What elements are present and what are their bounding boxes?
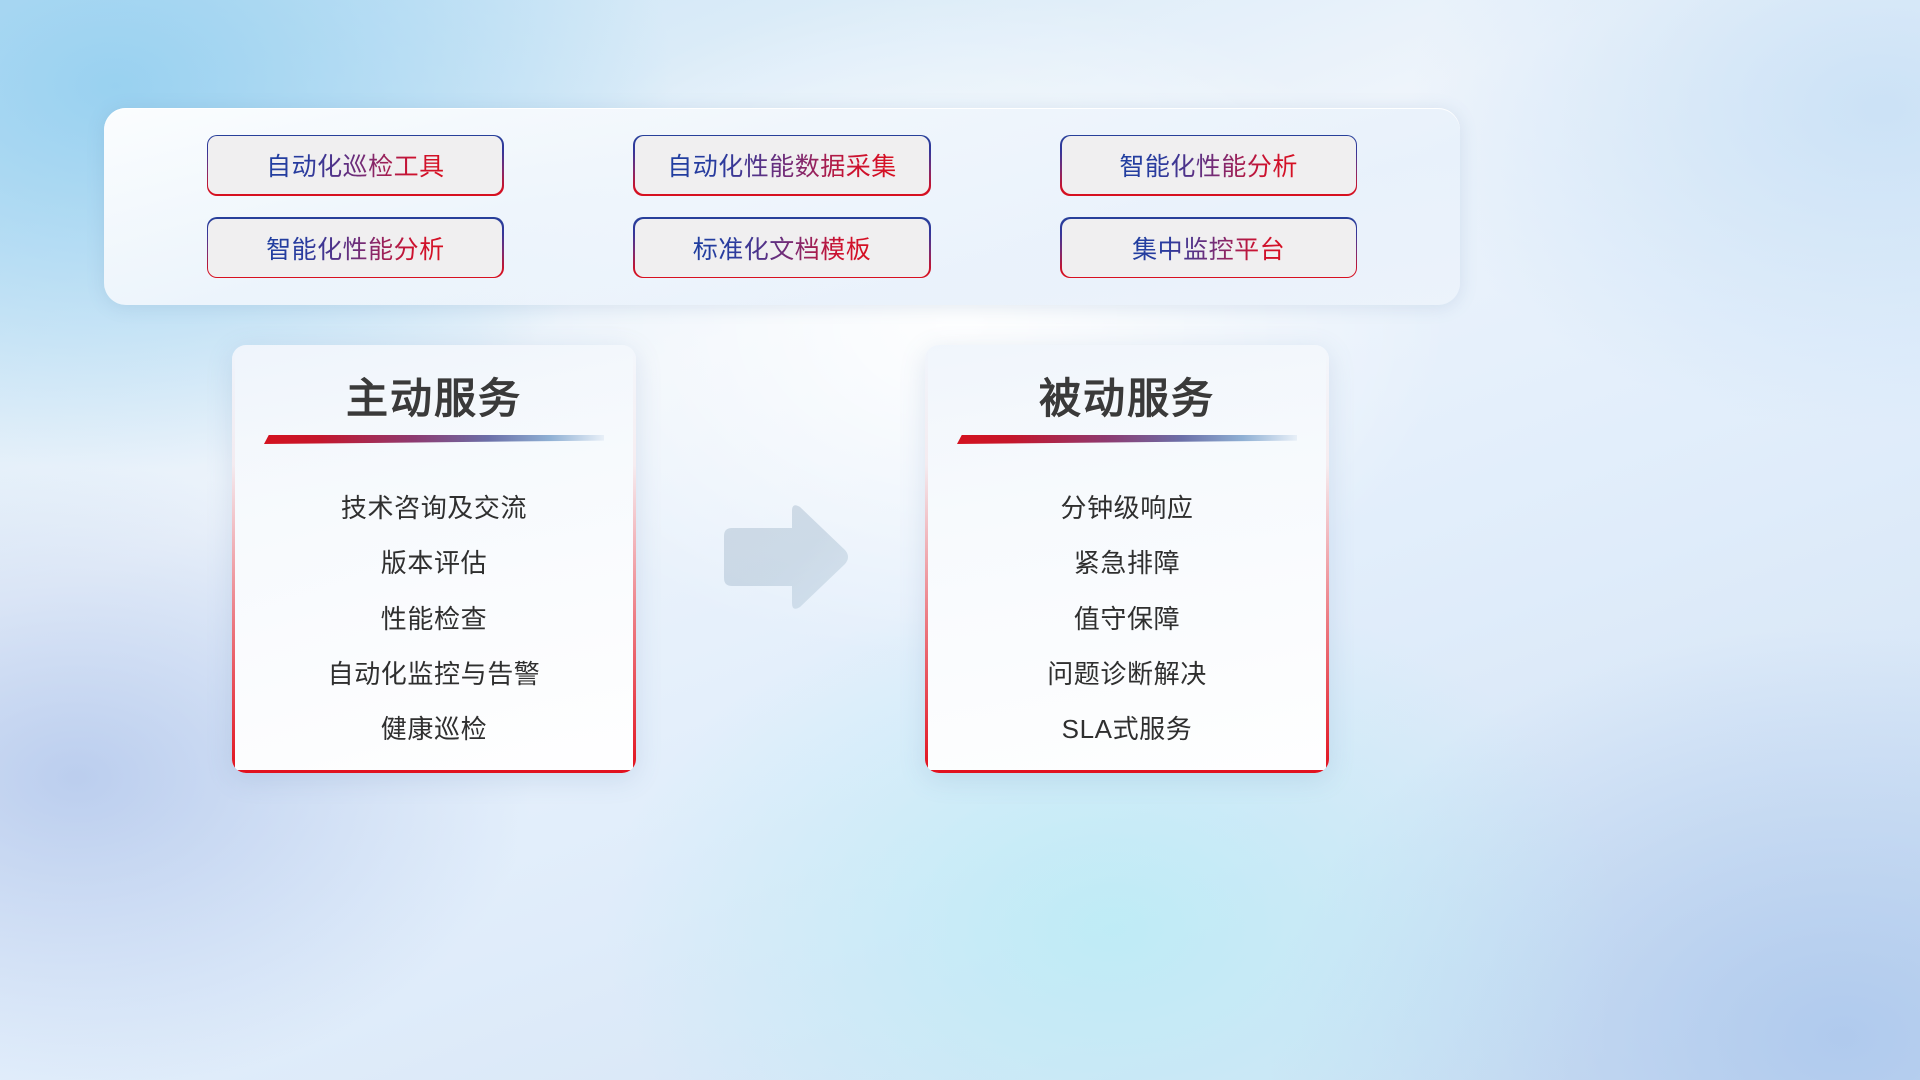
list-item[interactable]: 技术咨询及交流 <box>341 479 527 534</box>
card-title: 被动服务 <box>925 365 1329 426</box>
service-item-list: 分钟级响应 紧急排障 值守保障 问题诊断解决 SLA式服务 <box>925 465 1329 755</box>
arrow-right-icon <box>718 502 850 612</box>
card-bottom-rail <box>232 770 636 773</box>
card-divider-bar <box>957 435 1297 444</box>
capability-pill-label: 自动化性能数据采集 <box>667 147 897 183</box>
capability-pill[interactable]: 自动化性能数据采集 <box>635 136 929 194</box>
service-card-proactive[interactable]: 主动服务 技术咨询及交流 版本评估 性能检查 自动化监控与告警 健康巡检 <box>232 345 636 773</box>
card-divider-bar <box>264 435 604 444</box>
service-item-list: 技术咨询及交流 版本评估 性能检查 自动化监控与告警 健康巡检 <box>232 465 636 755</box>
slide-canvas: 自动化巡检工具 自动化性能数据采集 智能化性能分析 智能化性能分析 标准化文档模… <box>0 0 1920 1080</box>
list-item[interactable]: 自动化监控与告警 <box>328 645 541 700</box>
list-item[interactable]: 紧急排障 <box>1074 534 1180 589</box>
capability-pill[interactable]: 自动化巡检工具 <box>208 136 502 194</box>
capability-pill[interactable]: 智能化性能分析 <box>208 219 502 277</box>
capability-pill[interactable]: 集中监控平台 <box>1062 219 1356 277</box>
capability-pill[interactable]: 标准化文档模板 <box>635 219 929 277</box>
capability-pill-label: 标准化文档模板 <box>693 230 872 266</box>
capability-pill-label: 智能化性能分析 <box>1119 147 1298 183</box>
list-item[interactable]: 健康巡检 <box>381 700 487 755</box>
capability-pill-label: 集中监控平台 <box>1132 230 1285 266</box>
list-item[interactable]: 版本评估 <box>381 534 487 589</box>
list-item[interactable]: 值守保障 <box>1074 589 1180 644</box>
capability-pill-grid: 自动化巡检工具 自动化性能数据采集 智能化性能分析 智能化性能分析 标准化文档模… <box>104 108 1460 305</box>
service-card-reactive[interactable]: 被动服务 分钟级响应 紧急排障 值守保障 问题诊断解决 SLA式服务 <box>925 345 1329 773</box>
capability-panel: 自动化巡检工具 自动化性能数据采集 智能化性能分析 智能化性能分析 标准化文档模… <box>104 108 1460 305</box>
card-bottom-rail <box>925 770 1329 773</box>
capability-pill-label: 自动化巡检工具 <box>266 147 445 183</box>
list-item[interactable]: 分钟级响应 <box>1060 479 1193 534</box>
capability-pill-label: 智能化性能分析 <box>266 230 445 266</box>
capability-pill[interactable]: 智能化性能分析 <box>1062 136 1356 194</box>
list-item[interactable]: 性能检查 <box>381 589 487 644</box>
list-item[interactable]: SLA式服务 <box>1062 700 1193 755</box>
flow-arrow <box>718 502 850 612</box>
list-item[interactable]: 问题诊断解决 <box>1047 645 1207 700</box>
card-title: 主动服务 <box>232 365 636 426</box>
